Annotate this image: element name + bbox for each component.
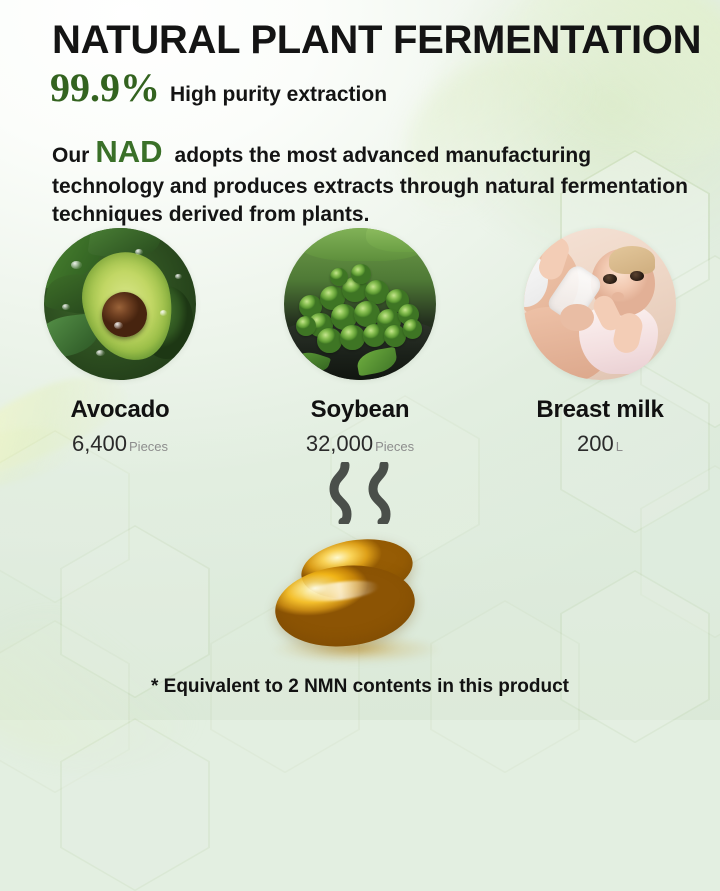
quantity-unit: L bbox=[616, 439, 623, 454]
squiggle-mark bbox=[328, 462, 354, 524]
quantity-unit: Pieces bbox=[129, 439, 168, 454]
breast-milk-photo bbox=[524, 228, 676, 380]
product-card-avocado: Avocado 6,400 Pieces bbox=[15, 228, 225, 457]
product-name: Avocado bbox=[15, 396, 225, 424]
quantity-value: 6,400 bbox=[72, 431, 127, 457]
product-quantity: 200 L bbox=[495, 431, 705, 457]
quantity-unit: Pieces bbox=[375, 439, 414, 454]
product-quantity: 6,400 Pieces bbox=[15, 431, 225, 457]
footnote: * Equivalent to 2 NMN contents in this p… bbox=[0, 676, 720, 698]
product-card-breast-milk: Breast milk 200 L bbox=[495, 228, 705, 457]
product-name: Breast milk bbox=[495, 396, 705, 424]
description-paragraph: OurNADadopts the most advanced manufactu… bbox=[52, 132, 696, 228]
purity-claim: 99.9% High purity extraction bbox=[50, 68, 387, 108]
soybean-photo bbox=[284, 228, 436, 380]
nad-highlight: NAD bbox=[89, 134, 174, 169]
product-card-soybean: Soybean 32,000 Pieces bbox=[255, 228, 465, 457]
avocado-photo bbox=[44, 228, 196, 380]
product-name: Soybean bbox=[255, 396, 465, 424]
purity-caption: High purity extraction bbox=[170, 84, 387, 105]
source-comparison-row: Avocado 6,400 Pieces bbox=[0, 228, 720, 457]
quantity-value: 32,000 bbox=[306, 431, 373, 457]
double-squiggle-down-icon bbox=[0, 462, 720, 524]
squiggle-mark bbox=[367, 462, 393, 524]
golden-softgel-capsules bbox=[0, 538, 720, 668]
page-title: NATURAL PLANT FERMENTATION bbox=[52, 18, 701, 63]
description-before: Our bbox=[52, 144, 89, 167]
poster-content: NATURAL PLANT FERMENTATION 99.9% High pu… bbox=[0, 0, 720, 720]
product-quantity: 32,000 Pieces bbox=[255, 431, 465, 457]
quantity-value: 200 bbox=[577, 431, 614, 457]
purity-value: 99.9% bbox=[50, 68, 160, 108]
